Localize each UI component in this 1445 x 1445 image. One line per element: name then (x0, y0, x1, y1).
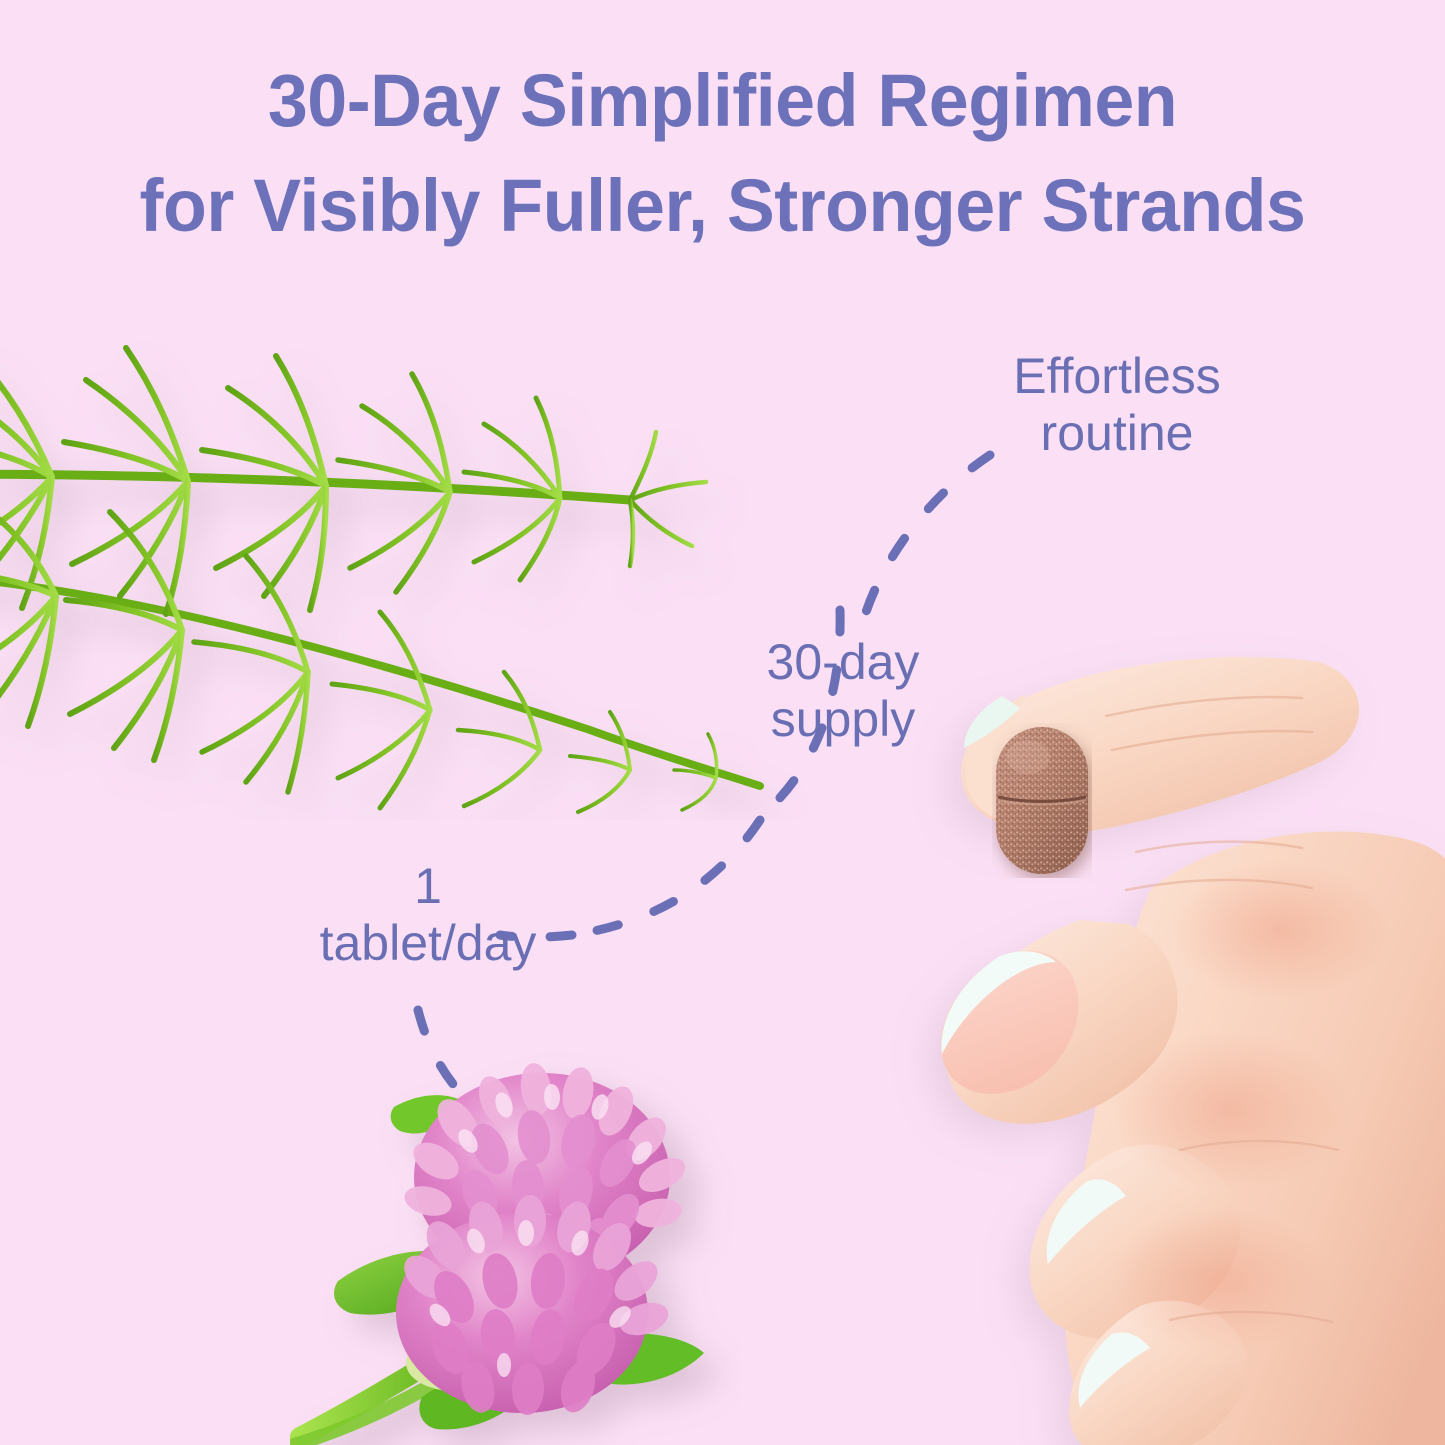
headline-line-2: for Visibly Fuller, Stronger Strands (22, 153, 1424, 258)
supplement-tablet (992, 723, 1092, 878)
horsetail-plant (0, 300, 810, 820)
hand-holding-tablet (850, 590, 1445, 1445)
callout-effortless-routine: Effortless routine (952, 348, 1282, 462)
page-title: 30-Day Simplified Regimen for Visibly Fu… (22, 48, 1424, 258)
product-infographic: 30-Day Simplified Regimen for Visibly Fu… (0, 0, 1445, 1445)
one-tablet-per-day-connector (572, 820, 760, 935)
callout-one-tablet-per-day: 1 tablet/day (278, 858, 578, 972)
headline-line-1: 30-Day Simplified Regimen (22, 48, 1424, 153)
red-clover-flower (290, 1045, 740, 1445)
